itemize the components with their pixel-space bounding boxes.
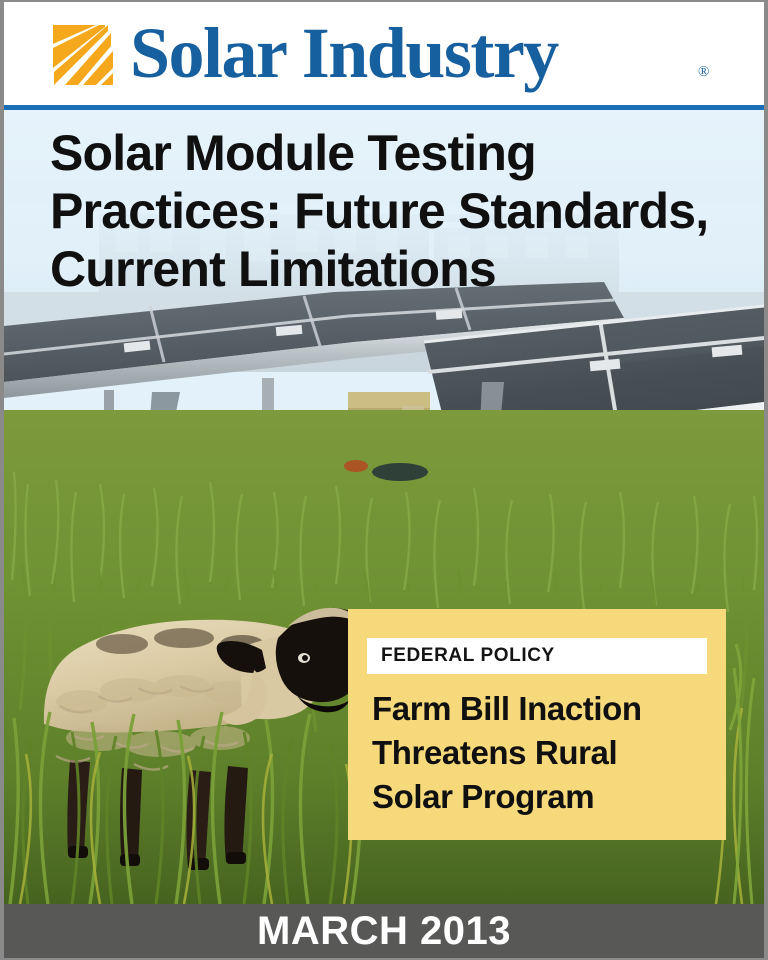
cover-headline-line-2: Practices: Future Standards, [50, 182, 750, 240]
masthead-title: Solar Industry [130, 16, 558, 90]
cover-headline: Solar Module Testing Practices: Future S… [50, 124, 750, 298]
teaser-kicker-label: FEDERAL POLICY [367, 645, 555, 667]
cover-headline-line-1: Solar Module Testing [50, 124, 750, 182]
page-frame: Solar Industry ® [4, 2, 764, 958]
teaser-headline: Farm Bill Inaction Threatens Rural Solar… [372, 687, 722, 819]
teaser-headline-line-3: Solar Program [372, 775, 722, 819]
issue-date-bar: MARCH 2013 [4, 904, 764, 958]
cover-headline-line-3: Current Limitations [50, 240, 750, 298]
sunburst-logo-icon [52, 24, 114, 86]
teaser-box[interactable]: FEDERAL POLICY Farm Bill Inaction Threat… [348, 609, 726, 840]
magazine-cover: Solar Industry ® [0, 0, 768, 960]
masthead: Solar Industry ® [4, 2, 764, 105]
teaser-headline-line-2: Threatens Rural [372, 731, 722, 775]
issue-date-label: MARCH 2013 [257, 911, 511, 951]
teaser-headline-line-1: Farm Bill Inaction [372, 687, 722, 731]
teaser-kicker-bar: FEDERAL POLICY [367, 638, 707, 674]
registered-trademark-icon: ® [698, 64, 709, 81]
